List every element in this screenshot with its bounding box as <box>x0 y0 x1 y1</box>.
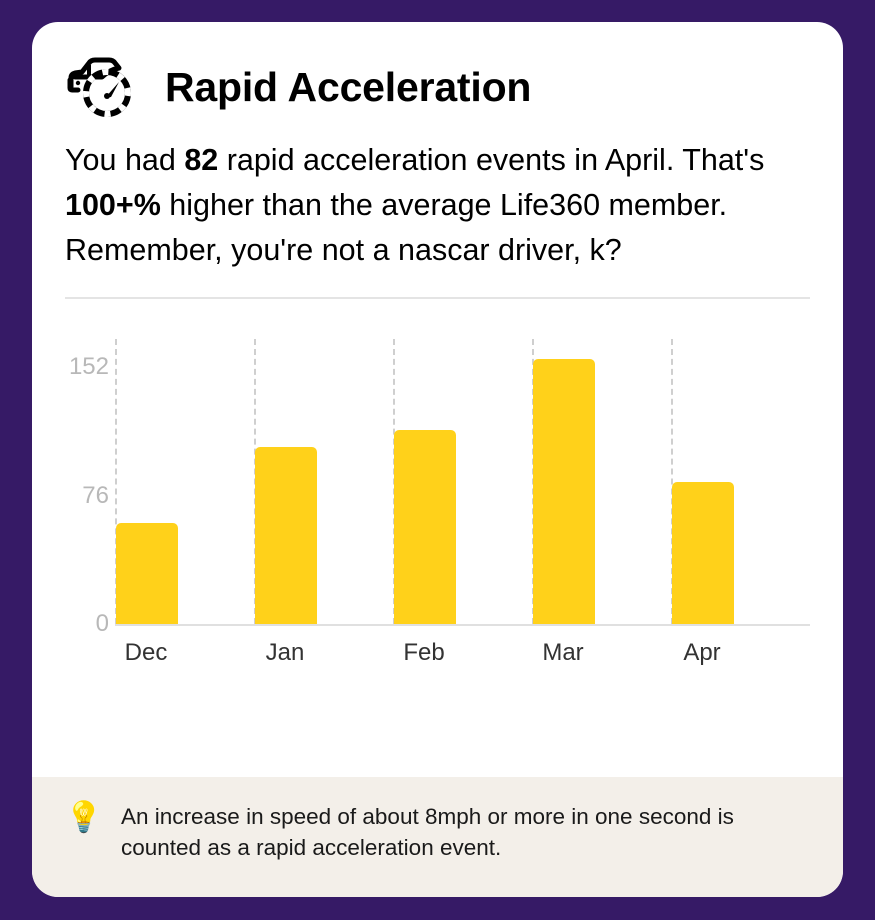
lightbulb-icon: 💡 <box>65 801 99 835</box>
chart-plot-area <box>115 339 810 626</box>
x-axis-tick: Feb <box>403 639 444 667</box>
summary-emphasis: 82 <box>184 143 218 177</box>
x-axis-labels: DecJanFebMarApr <box>115 639 810 679</box>
x-axis-tick: Dec <box>125 639 168 667</box>
x-axis-tick: Jan <box>266 639 305 667</box>
summary-run: higher than the average Life360 member. … <box>65 188 727 267</box>
y-axis-tick: 76 <box>82 482 109 510</box>
chart-bar[interactable] <box>672 482 734 624</box>
y-axis-tick: 152 <box>69 353 109 381</box>
chart-bar[interactable] <box>533 359 595 624</box>
divider <box>65 297 810 299</box>
car-speedometer-icon <box>65 56 149 118</box>
y-axis-labels: 152760 <box>65 339 109 626</box>
rapid-acceleration-chart: 152760 DecJanFebMarApr <box>65 339 810 684</box>
card-body: Rapid Acceleration You had 82 rapid acce… <box>32 22 843 777</box>
rapid-acceleration-card: Rapid Acceleration You had 82 rapid acce… <box>32 22 843 897</box>
summary-emphasis: 100+% <box>65 188 161 222</box>
chart-bar[interactable] <box>255 447 317 624</box>
summary-text: You had 82 rapid acceleration events in … <box>65 138 810 273</box>
card-header: Rapid Acceleration <box>65 48 810 126</box>
x-axis-tick: Mar <box>542 639 583 667</box>
page-title: Rapid Acceleration <box>165 64 531 111</box>
y-axis-tick: 0 <box>96 610 109 638</box>
info-footer: 💡 An increase in speed of about 8mph or … <box>32 777 843 897</box>
chart-bar[interactable] <box>116 523 178 624</box>
summary-run: You had <box>65 143 184 177</box>
x-axis-tick: Apr <box>683 639 720 667</box>
x-axis-line <box>115 624 810 626</box>
footer-description: An increase in speed of about 8mph or mo… <box>121 801 761 863</box>
summary-run: rapid acceleration events in April. That… <box>218 143 764 177</box>
chart-bar[interactable] <box>394 430 456 624</box>
